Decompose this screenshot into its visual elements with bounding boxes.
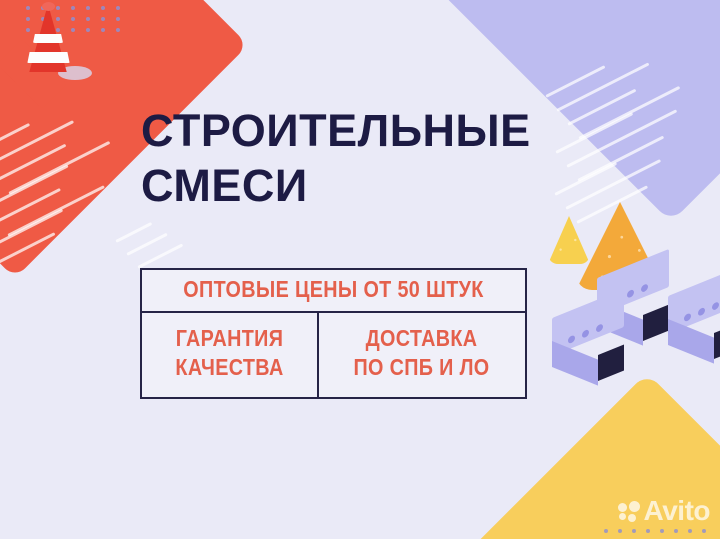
advertisement-poster: СТРОИТЕЛЬНЫЕ СМЕСИ ОПТОВЫЕ ЦЕНЫ ОТ 50 ШТ… [0, 0, 720, 539]
sand-pile-small-icon [548, 216, 590, 264]
offer-row-benefits: ГАРАНТИЯ КАЧЕСТВА ДОСТАВКА ПО СПБ И ЛО [142, 313, 525, 397]
avito-watermark: Avito [618, 497, 710, 525]
page-title: СТРОИТЕЛЬНЫЕ СМЕСИ [141, 104, 611, 214]
avito-wordmark: Avito [644, 497, 710, 525]
offer-cell-delivery: ДОСТАВКА ПО СПБ И ЛО [319, 313, 524, 397]
brick-icon [668, 296, 720, 354]
offer-cell-quality: ГАРАНТИЯ КАЧЕСТВА [142, 313, 319, 397]
offer-row-wholesale: ОПТОВЫЕ ЦЕНЫ ОТ 50 ШТУК [142, 270, 525, 313]
offer-wholesale-text: ОПТОВЫЕ ЦЕНЫ ОТ 50 ШТУК [169, 277, 498, 302]
watermark-dot-row-decoration [604, 527, 712, 535]
avito-logo-icon [618, 501, 640, 522]
offer-quality-text: ГАРАНТИЯ КАЧЕСТВА [159, 324, 299, 383]
offer-delivery-text: ДОСТАВКА ПО СПБ И ЛО [339, 324, 505, 383]
brick-icon [552, 318, 648, 376]
offer-highlights-box: ОПТОВЫЕ ЦЕНЫ ОТ 50 ШТУК ГАРАНТИЯ КАЧЕСТВ… [140, 268, 527, 399]
